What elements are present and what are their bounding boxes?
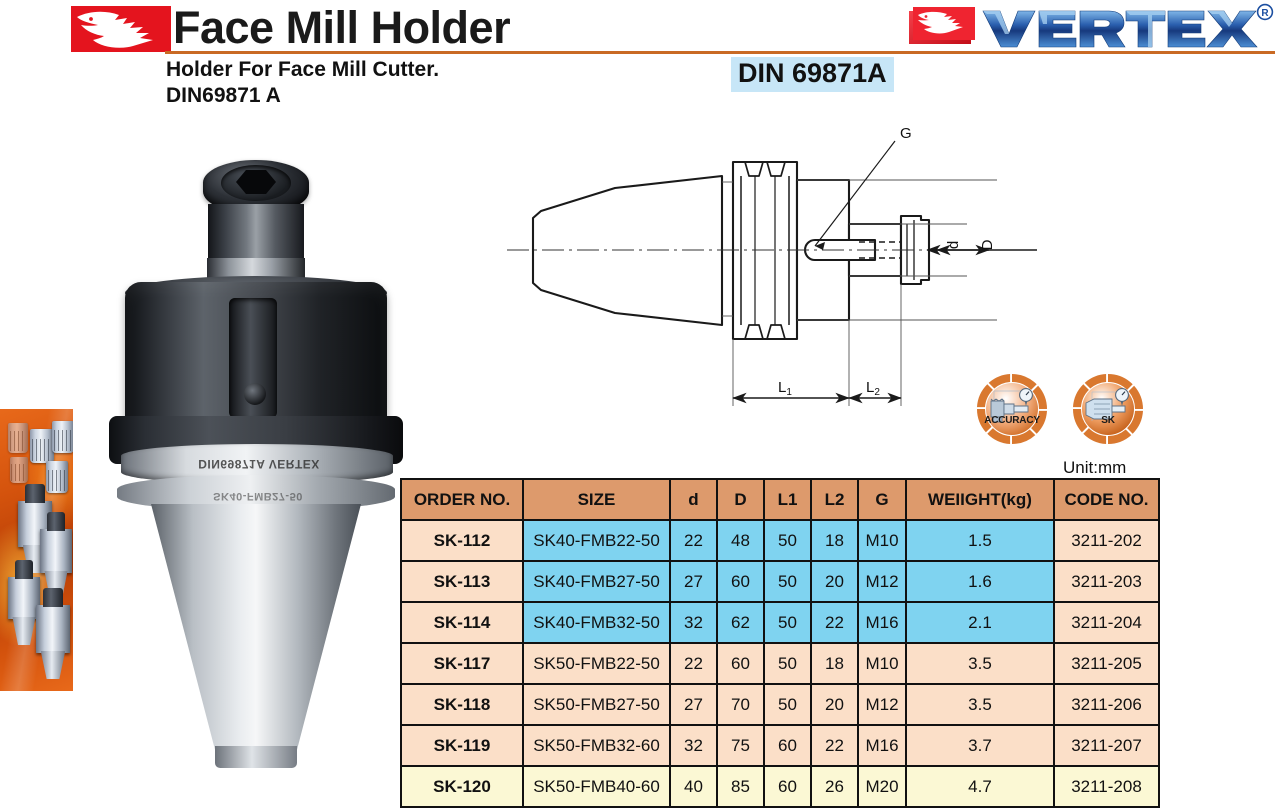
photo-taper-tip (215, 746, 297, 768)
cell-D: 70 (717, 684, 764, 725)
col-header-code-no: CODE NO. (1054, 479, 1159, 520)
cell-weight: 1.5 (906, 520, 1054, 561)
photo-neck (208, 204, 304, 266)
photo-engraving-size: SK40-FMB27-50 (163, 484, 353, 502)
table-body: SK-112SK40-FMB22-5022485018M101.53211-20… (401, 520, 1159, 807)
cell-D: 62 (717, 602, 764, 643)
cell-code-no: 3211-203 (1054, 561, 1159, 602)
drawing-label-d: d (945, 241, 962, 249)
cell-order-no: SK-113 (401, 561, 523, 602)
cell-L2: 20 (811, 684, 858, 725)
registered-trademark-icon: R (1258, 5, 1273, 20)
feature-badges: ACCURACY (975, 373, 1175, 445)
technical-drawing: G d D L1 L2 (497, 118, 1037, 418)
cell-weight: 2.1 (906, 602, 1054, 643)
cell-D: 60 (717, 643, 764, 684)
collage-collet (10, 457, 28, 483)
cell-weight: 3.7 (906, 725, 1054, 766)
drawing-label-G: G (900, 125, 912, 142)
cell-L1: 50 (764, 602, 811, 643)
cell-d: 22 (670, 643, 717, 684)
collage-collet (30, 429, 54, 463)
cell-weight: 1.6 (906, 561, 1054, 602)
drawing-label-L2: L2 (866, 379, 880, 398)
cell-L1: 50 (764, 561, 811, 602)
cell-L2: 22 (811, 725, 858, 766)
collage-collet (52, 421, 73, 453)
col-header-L2: L2 (811, 479, 858, 520)
cell-L2: 18 (811, 643, 858, 684)
cell-D: 75 (717, 725, 764, 766)
cell-L2: 18 (811, 520, 858, 561)
subtitle-line-1: Holder For Face Mill Cutter. (166, 58, 439, 82)
col-header-size: SIZE (523, 479, 670, 520)
cell-G: M10 (858, 643, 906, 684)
cell-L2: 22 (811, 602, 858, 643)
decorative-product-collage-strip (0, 409, 73, 691)
cell-code-no: 3211-208 (1054, 766, 1159, 807)
cell-d: 27 (670, 561, 717, 602)
cell-size: SK40-FMB32-50 (523, 602, 670, 643)
svg-text:R: R (1261, 8, 1269, 19)
cell-code-no: 3211-202 (1054, 520, 1159, 561)
cell-weight: 4.7 (906, 766, 1054, 807)
accuracy-badge: ACCURACY (976, 373, 1048, 445)
specification-table: ORDER NO. SIZE d D L1 L2 G WEIIGHT(kg) C… (400, 478, 1160, 808)
cell-L1: 50 (764, 643, 811, 684)
cell-d: 32 (670, 602, 717, 643)
table-header-row: ORDER NO. SIZE d D L1 L2 G WEIIGHT(kg) C… (401, 479, 1159, 520)
table-row: SK-113SK40-FMB27-5027605020M121.63211-20… (401, 561, 1159, 602)
cell-G: M16 (858, 602, 906, 643)
cell-size: SK50-FMB27-50 (523, 684, 670, 725)
cell-L1: 50 (764, 684, 811, 725)
cell-order-no: SK-120 (401, 766, 523, 807)
cell-G: M16 (858, 725, 906, 766)
cell-d: 32 (670, 725, 717, 766)
cell-G: M12 (858, 684, 906, 725)
cell-order-no: SK-118 (401, 684, 523, 725)
col-header-L1: L1 (764, 479, 811, 520)
subtitle-line-2: DIN69871 A (166, 84, 281, 108)
table-row: SK-114SK40-FMB32-5032625022M162.13211-20… (401, 602, 1159, 643)
cell-order-no: SK-112 (401, 520, 523, 561)
cell-weight: 3.5 (906, 684, 1054, 725)
collage-collet (46, 461, 68, 493)
cell-G: M12 (858, 561, 906, 602)
cell-L2: 26 (811, 766, 858, 807)
cell-D: 85 (717, 766, 764, 807)
cell-code-no: 3211-207 (1054, 725, 1159, 766)
standard-badge: DIN 69871A (731, 57, 894, 92)
cell-D: 48 (717, 520, 764, 561)
product-photo: DIN69871A VERTEX SK40-FMB27-50 (103, 148, 408, 773)
collage-collet (8, 423, 28, 453)
sk-badge-label: SK (1072, 415, 1144, 426)
cell-d: 40 (670, 766, 717, 807)
cell-L1: 60 (764, 766, 811, 807)
sk-badge: SK (1072, 373, 1144, 445)
col-header-G: G (858, 479, 906, 520)
photo-engraving-standard: DIN69871A VERTEX (143, 451, 375, 471)
cell-G: M10 (858, 520, 906, 561)
cell-code-no: 3211-206 (1054, 684, 1159, 725)
table-row: SK-120SK50-FMB40-6040856026M204.73211-20… (401, 766, 1159, 807)
cell-size: SK50-FMB32-60 (523, 725, 670, 766)
photo-set-screw (244, 383, 266, 405)
cell-L1: 60 (764, 725, 811, 766)
cell-weight: 3.5 (906, 643, 1054, 684)
cell-size: SK40-FMB22-50 (523, 520, 670, 561)
col-header-D: D (717, 479, 764, 520)
vertex-eagle-logo-icon (71, 6, 171, 52)
collage-holder (36, 605, 70, 653)
cell-D: 60 (717, 561, 764, 602)
cell-L2: 20 (811, 561, 858, 602)
collage-holder (40, 529, 72, 573)
cell-order-no: SK-117 (401, 643, 523, 684)
table-row: SK-117SK50-FMB22-5022605018M103.53211-20… (401, 643, 1159, 684)
table-row: SK-112SK40-FMB22-5022485018M101.53211-20… (401, 520, 1159, 561)
col-header-weight: WEIIGHT(kg) (906, 479, 1054, 520)
unit-note: Unit:mm (1063, 458, 1126, 478)
cell-size: SK50-FMB22-50 (523, 643, 670, 684)
col-header-d: d (670, 479, 717, 520)
table-row: SK-118SK50-FMB27-5027705020M123.53211-20… (401, 684, 1159, 725)
cell-size: SK40-FMB27-50 (523, 561, 670, 602)
col-header-order-no: ORDER NO. (401, 479, 523, 520)
cell-code-no: 3211-204 (1054, 602, 1159, 643)
cell-d: 22 (670, 520, 717, 561)
cell-G: M20 (858, 766, 906, 807)
cell-code-no: 3211-205 (1054, 643, 1159, 684)
vertex-brand-logo: R (897, 3, 1275, 51)
drawing-label-L1: L1 (778, 379, 792, 398)
cell-d: 27 (670, 684, 717, 725)
header-rule-divider (165, 51, 1275, 54)
cell-order-no: SK-114 (401, 602, 523, 643)
table-row: SK-119SK50-FMB32-6032756022M163.73211-20… (401, 725, 1159, 766)
cell-size: SK50-FMB40-60 (523, 766, 670, 807)
page-title: Face Mill Holder (173, 0, 510, 56)
accuracy-badge-label: ACCURACY (976, 415, 1048, 426)
cell-L1: 50 (764, 520, 811, 561)
cell-order-no: SK-119 (401, 725, 523, 766)
drawing-label-D: D (979, 239, 996, 250)
